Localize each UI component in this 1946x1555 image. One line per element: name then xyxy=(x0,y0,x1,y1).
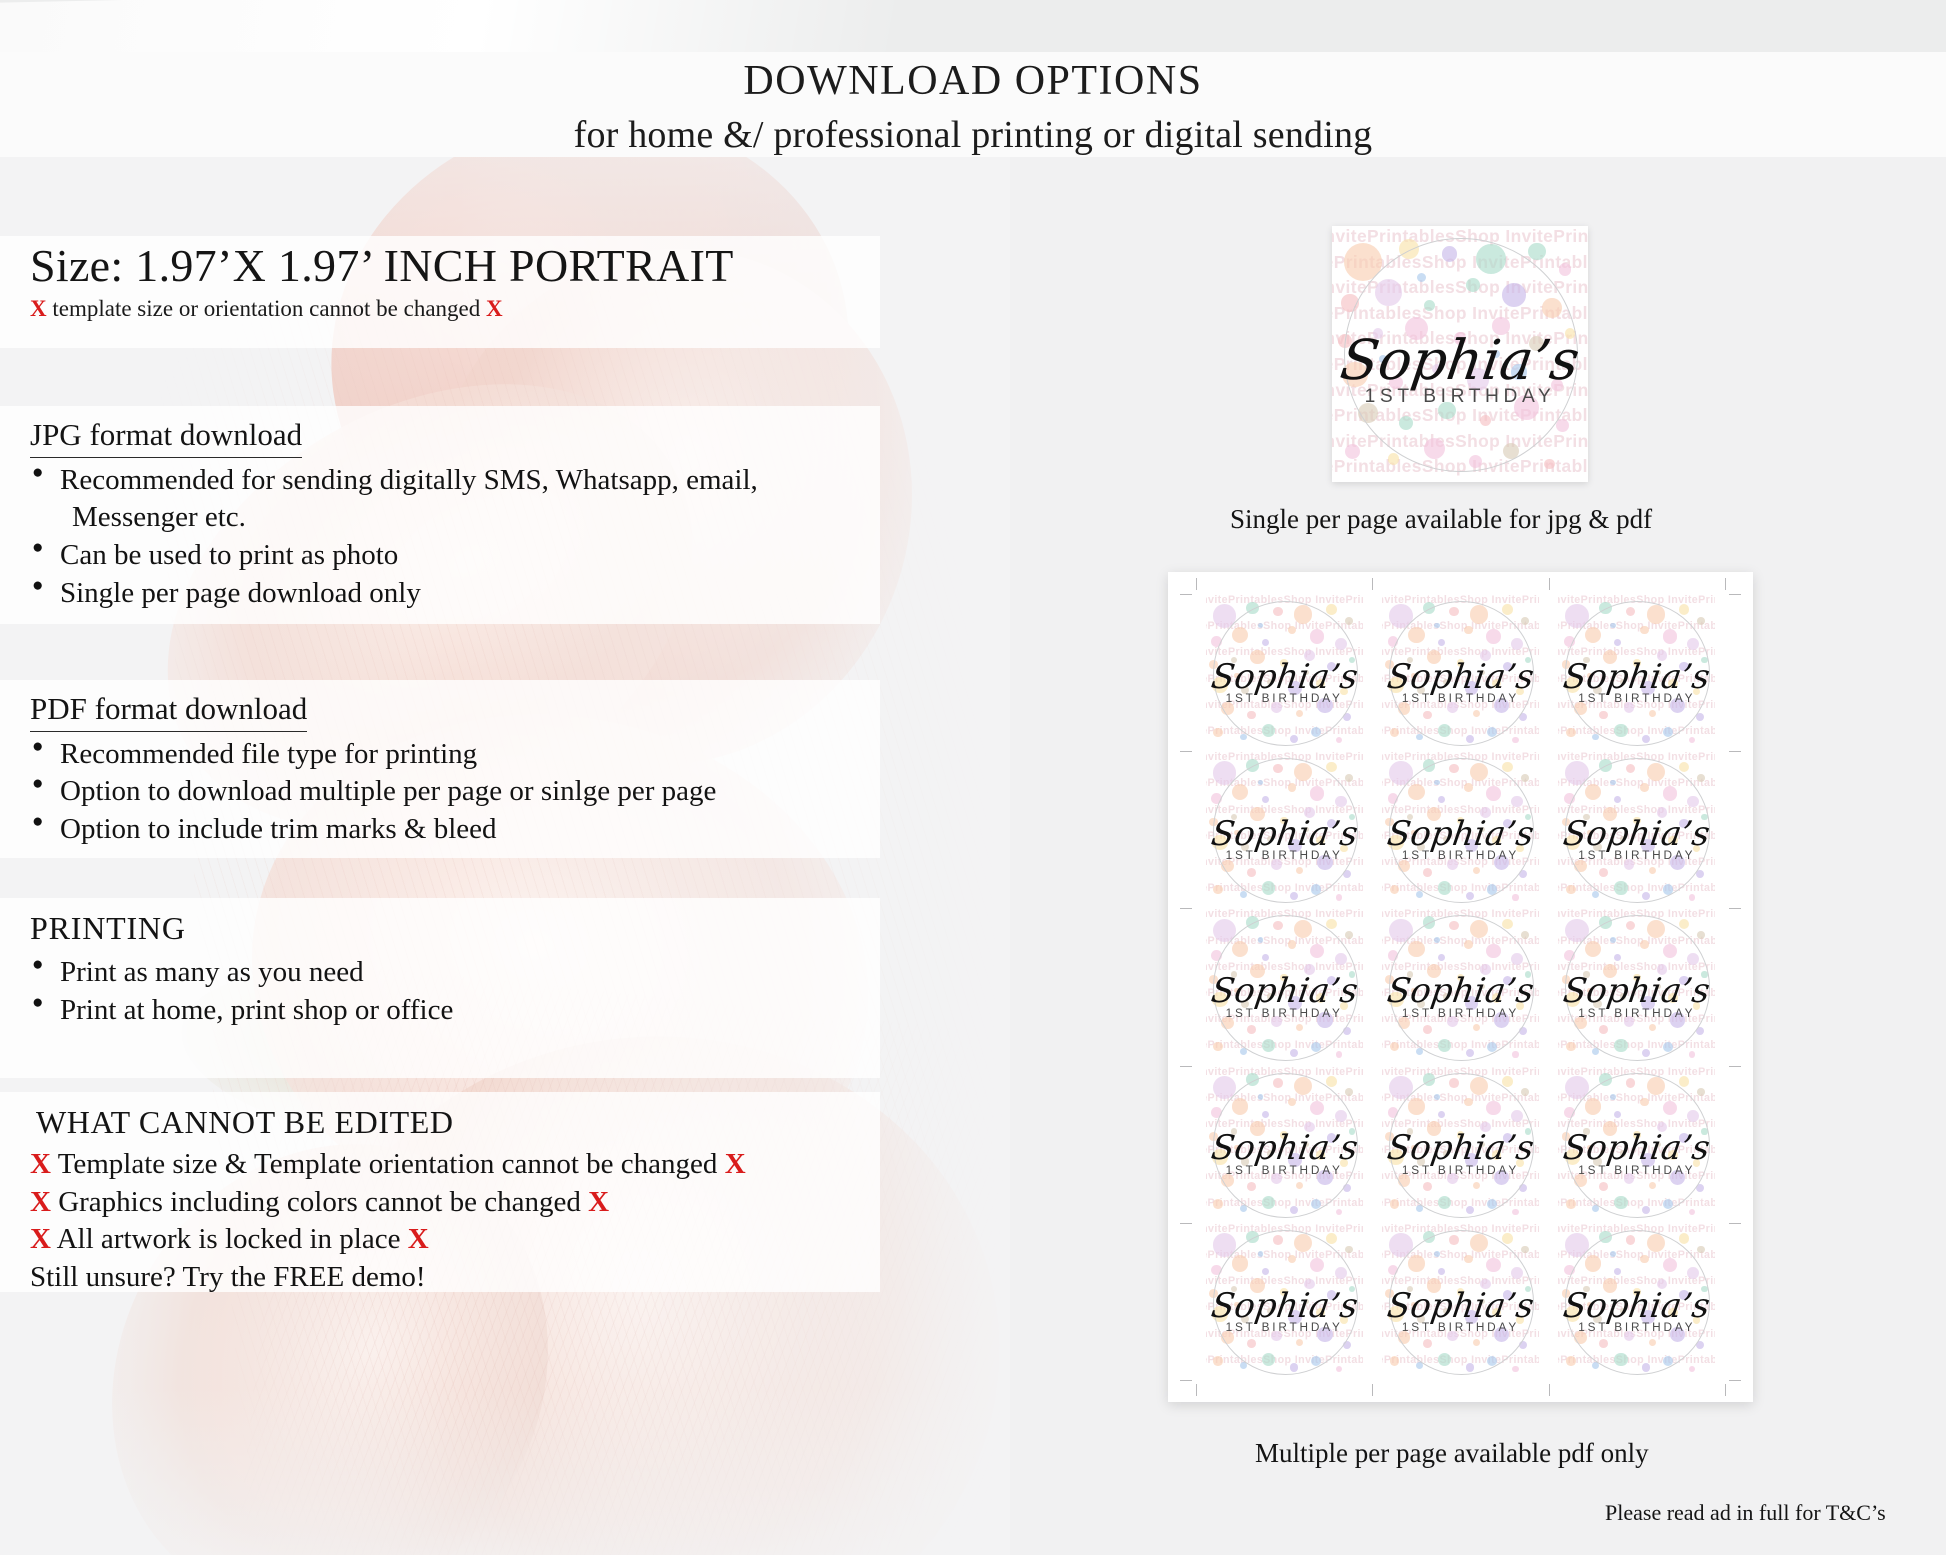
confetti-dot xyxy=(1689,894,1695,900)
trim-mark xyxy=(1180,594,1192,595)
header: DOWNLOAD OPTIONS for home &/ professiona… xyxy=(0,52,1946,157)
sticker-name: Sophia’s xyxy=(1558,657,1715,696)
demo-note: Still unsure? Try the FREE demo! xyxy=(30,1259,880,1297)
single-sticker-preview: InvitePrintablesShop InvitePrintablesSho… xyxy=(1332,226,1588,482)
trim-mark xyxy=(1729,908,1741,909)
list-item-text: All artwork is locked in place xyxy=(57,1223,401,1255)
confetti-dot xyxy=(1326,1076,1337,1087)
confetti-dot xyxy=(1345,444,1360,459)
page-root: DOWNLOAD OPTIONS for home &/ professiona… xyxy=(0,0,1946,1555)
confetti-dot xyxy=(1502,762,1513,773)
sticker-artwork: InvitePrintablesShop InvitePrintablesSho… xyxy=(1382,1223,1539,1380)
confetti-dot xyxy=(1521,931,1529,939)
sheet-sticker-cell: InvitePrintablesShop InvitePrintablesSho… xyxy=(1372,1223,1548,1380)
sticker-artwork: InvitePrintablesShop InvitePrintablesSho… xyxy=(1558,1223,1715,1380)
trim-mark xyxy=(1196,578,1197,590)
sticker-subtitle: 1ST BIRTHDAY xyxy=(1206,1164,1363,1177)
confetti-dot xyxy=(1689,1209,1695,1215)
trim-mark xyxy=(1372,578,1373,590)
confetti-dot xyxy=(1521,617,1529,625)
printing-heading: PRINTING xyxy=(30,898,186,950)
jpg-bullet-list: Recommended for sending digitally SMS, W… xyxy=(0,462,880,613)
list-item: Option to download multiple per page or … xyxy=(30,773,880,811)
sticker-name: Sophia’s xyxy=(1558,1128,1715,1167)
size-note: X template size or orientation cannot be… xyxy=(0,290,880,322)
list-item: Print as many as you need xyxy=(30,954,880,992)
confetti-dot xyxy=(1390,1199,1399,1208)
list-item: X Template size & Template orientation c… xyxy=(30,1146,880,1184)
confetti-dot xyxy=(1213,728,1222,737)
sheet-sticker-cell: InvitePrintablesShop InvitePrintablesSho… xyxy=(1372,594,1548,751)
sticker-artwork: InvitePrintablesShop InvitePrintablesSho… xyxy=(1558,594,1715,751)
trim-mark xyxy=(1729,1223,1741,1224)
printing-panel: PRINTING Print as many as you need Print… xyxy=(0,898,880,1078)
trim-mark xyxy=(1729,1380,1741,1381)
trim-mark xyxy=(1180,751,1192,752)
list-item: Option to include trim marks & bleed xyxy=(30,811,880,849)
x-icon: X xyxy=(30,296,47,321)
sticker-name: Sophia’s xyxy=(1206,657,1363,696)
sticker-artwork: InvitePrintablesShop InvitePrintablesSho… xyxy=(1206,1223,1363,1380)
sticker-artwork: InvitePrintablesShop InvitePrintablesSho… xyxy=(1206,594,1363,751)
size-panel: Size: 1.97’X 1.97’ INCH PORTRAIT X templ… xyxy=(0,236,880,348)
confetti-dot xyxy=(1390,728,1399,737)
sticker-name: Sophia’s xyxy=(1382,814,1539,853)
sticker-name: Sophia’s xyxy=(1332,328,1588,392)
confetti-dot xyxy=(1213,885,1222,894)
confetti-dot xyxy=(1566,1042,1575,1051)
sheet-sticker-cell: InvitePrintablesShop InvitePrintablesSho… xyxy=(1549,594,1725,751)
sticker-name: Sophia’s xyxy=(1382,1286,1539,1325)
x-icon: X xyxy=(30,1186,51,1218)
pdf-heading: PDF format download xyxy=(30,680,307,732)
confetti-dot xyxy=(1512,737,1518,743)
confetti-dot xyxy=(1689,1366,1695,1372)
sheet-sticker-cell: InvitePrintablesShop InvitePrintablesSho… xyxy=(1549,1066,1725,1223)
sticker-grid: InvitePrintablesShop InvitePrintablesSho… xyxy=(1196,594,1725,1380)
x-icon: X xyxy=(725,1148,746,1180)
list-item: Messenger etc. xyxy=(30,499,880,537)
sheet-sticker-cell: InvitePrintablesShop InvitePrintablesSho… xyxy=(1196,594,1372,751)
confetti-dot xyxy=(1345,931,1353,939)
confetti-dot xyxy=(1566,1356,1575,1365)
confetti-dot xyxy=(1213,1199,1222,1208)
x-icon: X xyxy=(588,1186,609,1218)
sticker-name: Sophia’s xyxy=(1558,1286,1715,1325)
sticker-subtitle: 1ST BIRTHDAY xyxy=(1558,1007,1715,1020)
sticker-subtitle: 1ST BIRTHDAY xyxy=(1558,1321,1715,1334)
confetti-dot xyxy=(1697,617,1705,625)
confetti-dot xyxy=(1679,1233,1690,1244)
sticker-artwork: InvitePrintablesShop InvitePrintablesSho… xyxy=(1382,751,1539,908)
size-heading: Size: 1.97’X 1.97’ INCH PORTRAIT xyxy=(0,236,880,290)
trim-mark xyxy=(1549,578,1550,590)
confetti-dot xyxy=(1512,1366,1518,1372)
sticker-name: Sophia’s xyxy=(1558,971,1715,1010)
confetti-dot xyxy=(1345,617,1353,625)
confetti-dot xyxy=(1566,885,1575,894)
confetti-dot xyxy=(1566,728,1575,737)
multiple-per-page-sheet: InvitePrintablesShop InvitePrintablesSho… xyxy=(1168,572,1753,1402)
x-icon: X xyxy=(30,1148,51,1180)
sticker-subtitle: 1ST BIRTHDAY xyxy=(1206,1321,1363,1334)
multiple-per-page-caption: Multiple per page available pdf only xyxy=(1255,1438,1649,1469)
x-icon: X xyxy=(30,1223,51,1255)
confetti-dot xyxy=(1345,1246,1353,1254)
terms-note: Please read ad in full for T&C’s xyxy=(1605,1500,1886,1526)
x-icon: X xyxy=(486,296,503,321)
confetti-dot xyxy=(1345,1088,1353,1096)
trim-mark xyxy=(1725,1384,1726,1396)
sticker-subtitle: 1ST BIRTHDAY xyxy=(1382,1321,1539,1334)
sheet-sticker-cell: InvitePrintablesShop InvitePrintablesSho… xyxy=(1549,751,1725,908)
sticker-name: Sophia’s xyxy=(1382,657,1539,696)
jpg-panel: JPG format download Recommended for send… xyxy=(0,406,880,624)
confetti-dot xyxy=(1240,891,1247,898)
confetti-dot xyxy=(1679,1076,1690,1087)
confetti-dot xyxy=(1566,1199,1575,1208)
sheet-sticker-cell: InvitePrintablesShop InvitePrintablesSho… xyxy=(1196,751,1372,908)
sticker-artwork: InvitePrintablesShop InvitePrintablesSho… xyxy=(1558,1066,1715,1223)
sticker-subtitle: 1ST BIRTHDAY xyxy=(1382,1164,1539,1177)
sticker-artwork: InvitePrintablesShop InvitePrintablesSho… xyxy=(1382,908,1539,1065)
trim-mark xyxy=(1725,578,1726,590)
trim-mark xyxy=(1180,1223,1192,1224)
jpg-heading: JPG format download xyxy=(30,406,302,458)
sheet-sticker-cell: InvitePrintablesShop InvitePrintablesSho… xyxy=(1196,908,1372,1065)
cannot-edit-heading: WHAT CANNOT BE EDITED xyxy=(36,1092,454,1144)
printing-bullet-list: Print as many as you need Print at home,… xyxy=(0,954,880,1029)
sticker-artwork: InvitePrintablesShop InvitePrintablesSho… xyxy=(1206,908,1363,1065)
confetti-dot xyxy=(1388,453,1399,464)
sheet-sticker-cell: InvitePrintablesShop InvitePrintablesSho… xyxy=(1549,1223,1725,1380)
confetti-dot xyxy=(1502,604,1513,615)
list-item: Can be used to print as photo xyxy=(30,537,880,575)
confetti-dot xyxy=(1336,1051,1342,1057)
list-item: Single per page download only xyxy=(30,575,880,613)
sticker-name: Sophia’s xyxy=(1206,1128,1363,1167)
confetti-dot xyxy=(1512,894,1518,900)
size-note-text: template size or orientation cannot be c… xyxy=(52,296,480,321)
trim-mark xyxy=(1549,1384,1550,1396)
single-per-page-caption: Single per page available for jpg & pdf xyxy=(1230,504,1652,535)
trim-mark xyxy=(1196,1384,1197,1396)
sticker-name: Sophia’s xyxy=(1382,1128,1539,1167)
cannot-edit-panel: WHAT CANNOT BE EDITED X Template size & … xyxy=(0,1092,880,1292)
sticker-artwork: InvitePrintablesShop InvitePrintablesSho… xyxy=(1382,1066,1539,1223)
sticker-artwork: InvitePrintablesShop InvitePrintablesSho… xyxy=(1382,594,1539,751)
sticker-subtitle: 1ST BIRTHDAY xyxy=(1382,1007,1539,1020)
confetti-dot xyxy=(1390,1356,1399,1365)
confetti-dot xyxy=(1345,774,1353,782)
pdf-panel: PDF format download Recommended file typ… xyxy=(0,680,880,858)
sheet-sticker-cell: InvitePrintablesShop InvitePrintablesSho… xyxy=(1549,908,1725,1065)
sticker-name: Sophia’s xyxy=(1206,814,1363,853)
sticker-subtitle: 1ST BIRTHDAY xyxy=(1206,692,1363,705)
page-title: DOWNLOAD OPTIONS xyxy=(743,52,1202,105)
page-subtitle: for home &/ professional printing or dig… xyxy=(574,105,1373,157)
confetti-dot xyxy=(1521,774,1529,782)
sticker-subtitle: 1ST BIRTHDAY xyxy=(1382,692,1539,705)
sheet-sticker-cell: InvitePrintablesShop InvitePrintablesSho… xyxy=(1196,1066,1372,1223)
sticker-artwork: InvitePrintablesShop InvitePrintablesSho… xyxy=(1206,751,1363,908)
sticker-artwork: InvitePrintablesShop InvitePrintablesSho… xyxy=(1206,1066,1363,1223)
trim-mark xyxy=(1729,594,1741,595)
x-icon: X xyxy=(408,1223,429,1255)
confetti-dot xyxy=(1528,243,1545,260)
sheet-sticker-cell: InvitePrintablesShop InvitePrintablesSho… xyxy=(1372,1066,1548,1223)
pdf-bullet-list: Recommended file type for printing Optio… xyxy=(0,736,880,849)
trim-mark xyxy=(1180,908,1192,909)
trim-mark xyxy=(1729,751,1741,752)
confetti-dot xyxy=(1336,894,1342,900)
list-item: Recommended for sending digitally SMS, W… xyxy=(30,462,880,500)
sheet-sticker-cell: InvitePrintablesShop InvitePrintablesSho… xyxy=(1372,751,1548,908)
list-item-text: Graphics including colors cannot be chan… xyxy=(58,1186,581,1218)
trim-mark xyxy=(1372,1384,1373,1396)
list-item-text: Template size & Template orientation can… xyxy=(58,1148,718,1180)
list-item: X Graphics including colors cannot be ch… xyxy=(30,1184,880,1222)
sticker-name: Sophia’s xyxy=(1206,971,1363,1010)
list-item: Print at home, print shop or office xyxy=(30,992,880,1030)
sticker-name: Sophia’s xyxy=(1382,971,1539,1010)
trim-mark xyxy=(1180,1066,1192,1067)
trim-mark xyxy=(1180,1380,1192,1381)
sheet-inner: InvitePrintablesShop InvitePrintablesSho… xyxy=(1196,594,1725,1380)
confetti-dot xyxy=(1544,459,1554,469)
cannot-edit-list: X Template size & Template orientation c… xyxy=(0,1146,880,1297)
list-item: Recommended file type for printing xyxy=(30,736,880,774)
confetti-dot xyxy=(1512,1051,1518,1057)
sticker-artwork: InvitePrintablesShop InvitePrintablesSho… xyxy=(1558,751,1715,908)
sheet-sticker-cell: InvitePrintablesShop InvitePrintablesSho… xyxy=(1196,1223,1372,1380)
sticker-subtitle: 1ST BIRTHDAY xyxy=(1206,849,1363,862)
confetti-dot xyxy=(1512,1209,1518,1215)
confetti-dot xyxy=(1326,1233,1337,1244)
sticker-artwork: InvitePrintablesShop InvitePrintablesSho… xyxy=(1332,226,1588,482)
confetti-dot xyxy=(1689,1051,1695,1057)
confetti-dot xyxy=(1559,263,1572,276)
sticker-subtitle: 1ST BIRTHDAY xyxy=(1206,1007,1363,1020)
confetti-dot xyxy=(1502,1076,1513,1087)
sheet-sticker-cell: InvitePrintablesShop InvitePrintablesSho… xyxy=(1372,908,1548,1065)
confetti-dot xyxy=(1697,774,1705,782)
confetti-dot xyxy=(1502,1233,1513,1244)
sticker-subtitle: 1ST BIRTHDAY xyxy=(1558,1164,1715,1177)
sticker-name: Sophia’s xyxy=(1558,814,1715,853)
sticker-artwork: InvitePrintablesShop InvitePrintablesSho… xyxy=(1558,908,1715,1065)
sticker-subtitle: 1ST BIRTHDAY xyxy=(1382,849,1539,862)
trim-mark xyxy=(1729,1066,1741,1067)
sticker-name: Sophia’s xyxy=(1206,1286,1363,1325)
sticker-subtitle: 1ST BIRTHDAY xyxy=(1558,692,1715,705)
list-item: X All artwork is locked in place X xyxy=(30,1221,880,1259)
confetti-dot xyxy=(1213,1356,1222,1365)
sticker-subtitle: 1ST BIRTHDAY xyxy=(1332,386,1588,408)
sticker-subtitle: 1ST BIRTHDAY xyxy=(1558,849,1715,862)
